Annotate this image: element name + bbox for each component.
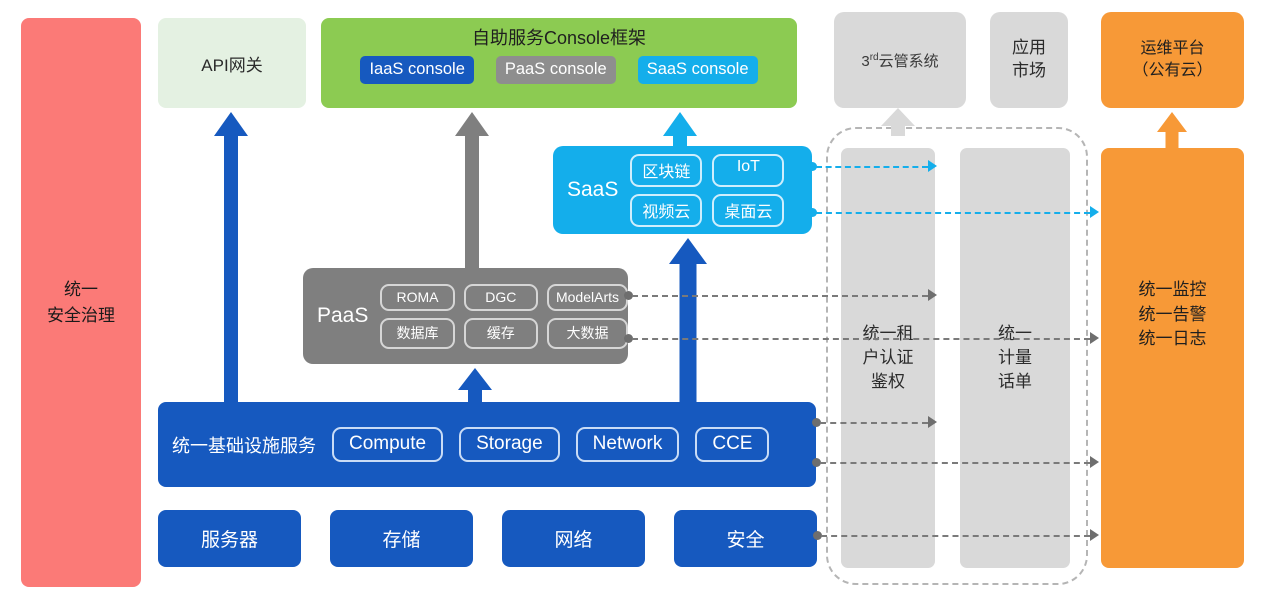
app-market-line-2: 市场 — [1012, 60, 1046, 83]
app-market-label: 应用 市场 — [1012, 37, 1046, 83]
iaas-service-cce[interactable]: CCE — [695, 427, 769, 462]
connector-arrowhead-saas-to-auth — [928, 160, 937, 172]
connector-arrowhead-iaas-to-monitoring — [1090, 456, 1099, 468]
paas-service-cache[interactable]: 缓存 — [464, 318, 538, 349]
paas-service-database[interactable]: 数据库 — [380, 318, 454, 349]
connector-line-saas-to-monitoring — [816, 212, 1090, 214]
saas-service-iot[interactable]: IoT — [712, 154, 784, 187]
paas-service-dgc[interactable]: DGC — [464, 284, 538, 311]
api-gateway-box: API网关 — [158, 18, 306, 108]
hardware-box-storage: 存储 — [330, 510, 473, 567]
console-chip-row: IaaS console PaaS console SaaS console — [321, 56, 797, 84]
hardware-label-network: 网络 — [554, 525, 592, 552]
console-framework-box: 自助服务Console框架 IaaS console PaaS console … — [321, 18, 797, 108]
connector-line-saas-to-auth — [816, 166, 928, 168]
governance-label: 统一 安全治理 — [47, 277, 115, 328]
app-market-box: 应用 市场 — [990, 12, 1068, 108]
chip-iaas-console[interactable]: IaaS console — [360, 56, 473, 84]
connector-line-paas-to-auth — [632, 295, 928, 297]
paas-service-grid: ROMA DGC ModelArts 数据库 缓存 大数据 — [380, 284, 628, 349]
arrow-up-to-paas-console — [455, 112, 489, 272]
paas-layer-box: PaaS ROMA DGC ModelArts 数据库 缓存 大数据 — [303, 268, 628, 364]
ops-platform-box: 运维平台 （公有云） — [1101, 12, 1244, 108]
unified-infrastructure-label: 统一基础设施服务 — [172, 432, 316, 458]
unified-security-governance-panel: 统一 安全治理 — [21, 18, 141, 587]
auth-line-1: 统一租 — [863, 322, 914, 346]
connector-arrowhead-saas-to-monitoring — [1090, 206, 1099, 218]
hardware-label-server: 服务器 — [201, 525, 258, 552]
paas-service-roma[interactable]: ROMA — [380, 284, 454, 311]
unified-infrastructure-box: 统一基础设施服务 Compute Storage Network CCE — [158, 402, 816, 487]
arrow-up-iaas-to-saas — [669, 238, 707, 406]
iaas-service-network[interactable]: Network — [576, 427, 680, 462]
meter-line-1: 统一 — [998, 322, 1032, 346]
monitoring-line-3: 统一日志 — [1101, 327, 1244, 352]
arrow-up-to-api-gateway — [214, 112, 248, 404]
saas-service-grid: 区块链 IoT 视频云 桌面云 — [630, 154, 784, 227]
third-party-cloud-management-box: 3rd云管系统 — [834, 12, 966, 108]
saas-service-blockchain[interactable]: 区块链 — [630, 154, 702, 187]
meter-line-3: 话单 — [998, 370, 1032, 394]
hardware-box-server: 服务器 — [158, 510, 301, 567]
monitoring-label: 统一监控 统一告警 统一日志 — [1101, 278, 1244, 352]
arrow-up-to-third-party-cloud — [881, 108, 915, 136]
paas-service-modelarts[interactable]: ModelArts — [547, 284, 628, 311]
third-party-cloud-label: 3rd云管系统 — [861, 50, 938, 71]
arrow-up-to-saas-console — [663, 112, 697, 152]
arrow-up-iaas-to-paas — [458, 368, 492, 406]
chip-paas-console[interactable]: PaaS console — [496, 56, 616, 84]
console-framework-title: 自助服务Console框架 — [472, 24, 646, 50]
saas-layer-box: SaaS 区块链 IoT 视频云 桌面云 — [553, 146, 812, 234]
paas-label: PaaS — [317, 304, 368, 328]
hardware-label-security: 安全 — [726, 525, 764, 552]
monitoring-line-2: 统一告警 — [1101, 303, 1244, 328]
third-party-prefix: 3 — [861, 53, 869, 70]
auth-line-2: 户认证 — [863, 346, 914, 370]
paas-service-bigdata[interactable]: 大数据 — [547, 318, 628, 349]
connector-line-iaas-to-monitoring — [820, 462, 1090, 464]
third-party-suffix: 云管系统 — [879, 53, 939, 70]
unified-tenant-auth-label: 统一租 户认证 鉴权 — [863, 322, 914, 393]
connector-arrowhead-paas-to-auth — [928, 289, 937, 301]
unified-metering-label: 统一 计量 话单 — [998, 322, 1032, 393]
ops-platform-label: 运维平台 （公有云） — [1132, 38, 1212, 81]
connector-line-hardware-to-monitoring — [821, 535, 1090, 537]
ops-platform-line-1: 运维平台 — [1132, 38, 1212, 60]
hardware-box-network: 网络 — [502, 510, 645, 567]
unified-metering-column: 统一 计量 话单 — [960, 148, 1070, 568]
chip-saas-console[interactable]: SaaS console — [638, 56, 758, 84]
unified-monitoring-panel: 统一监控 统一告警 统一日志 — [1101, 148, 1244, 568]
connector-line-iaas-to-auth — [820, 422, 928, 424]
governance-line-2: 安全治理 — [47, 303, 115, 329]
connector-arrowhead-hardware-to-monitoring — [1090, 529, 1099, 541]
api-gateway-label: API网关 — [201, 51, 262, 76]
architecture-diagram: 统一 安全治理 API网关 自助服务Console框架 IaaS console… — [0, 0, 1265, 605]
hardware-box-security: 安全 — [674, 510, 817, 567]
connector-arrowhead-paas-to-monitoring — [1090, 332, 1099, 344]
governance-line-1: 统一 — [47, 277, 115, 303]
app-market-line-1: 应用 — [1012, 37, 1046, 60]
ops-platform-line-2: （公有云） — [1132, 60, 1212, 82]
iaas-service-storage[interactable]: Storage — [459, 427, 560, 462]
auth-line-3: 鉴权 — [863, 370, 914, 394]
iaas-service-compute[interactable]: Compute — [332, 427, 443, 462]
unified-tenant-auth-column: 统一租 户认证 鉴权 — [841, 148, 935, 568]
saas-service-video-cloud[interactable]: 视频云 — [630, 194, 702, 227]
connector-arrowhead-iaas-to-auth — [928, 416, 937, 428]
third-party-superscript: rd — [870, 52, 879, 63]
arrow-up-to-ops-platform — [1157, 112, 1187, 150]
hardware-label-storage: 存储 — [382, 525, 420, 552]
connector-line-paas-to-monitoring — [632, 338, 1090, 340]
meter-line-2: 计量 — [998, 346, 1032, 370]
monitoring-line-1: 统一监控 — [1101, 278, 1244, 303]
saas-service-desktop-cloud[interactable]: 桌面云 — [712, 194, 784, 227]
saas-label: SaaS — [567, 178, 618, 202]
